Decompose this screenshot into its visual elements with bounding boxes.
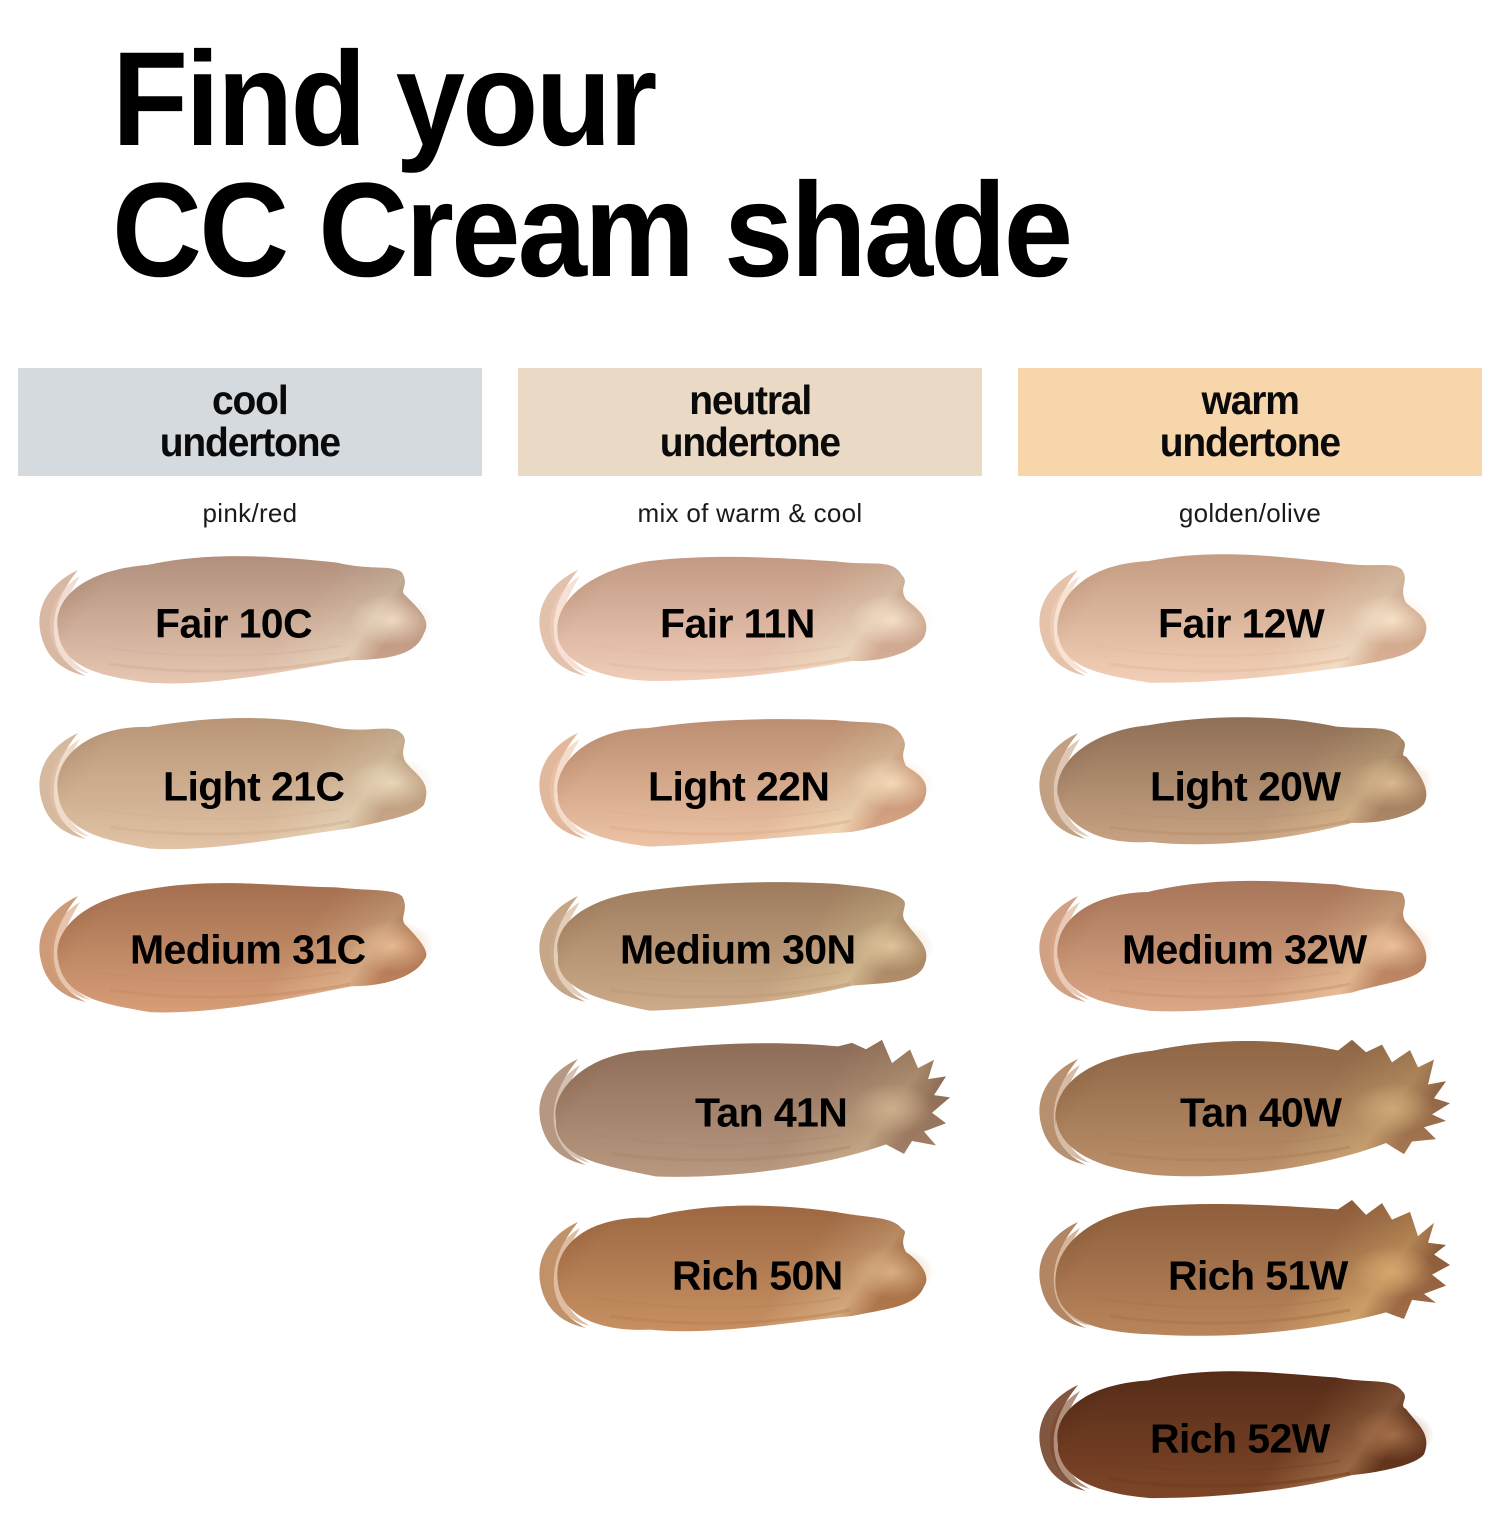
undertone-column-cool: coolundertonepink/redFair 10CLight 21CMe… [0,360,500,1520]
shade-name-label: Fair 12W [1158,600,1324,647]
undertone-header-line-1: warm [1201,380,1298,422]
page-title-line-2: CC Cream shade [112,165,1340,296]
shade-name-label: Tan 40W [1180,1089,1341,1136]
undertone-subtitle-cool: pink/red [0,498,500,532]
shade-swatch[interactable]: Light 22N [500,705,960,868]
shade-swatch[interactable]: Light 21C [0,705,460,868]
swatch-stack-cool: Fair 10CLight 21CMedium 31C [0,542,500,1031]
undertone-header-line-2: undertone [160,422,340,464]
undertone-column-warm: warmundertonegolden/oliveFair 12WLight 2… [1000,360,1500,1520]
shade-name-label: Light 21C [163,763,344,810]
shade-name-label: Rich 52W [1150,1415,1330,1462]
undertone-header-line-2: undertone [660,422,840,464]
shade-name-label: Rich 50N [672,1252,843,1299]
shade-swatch[interactable]: Medium 30N [500,868,960,1031]
undertone-subtitle-neutral: mix of warm & cool [500,498,1000,532]
shade-columns: coolundertonepink/redFair 10CLight 21CMe… [0,360,1500,1520]
shade-name-label: Tan 41N [695,1089,847,1136]
shade-swatch[interactable]: Tan 41N [500,1031,960,1194]
undertone-header-line-1: neutral [689,380,811,422]
shade-swatch[interactable]: Fair 12W [1000,542,1460,705]
undertone-header-line-1: cool [212,380,288,422]
shade-swatch[interactable]: Medium 32W [1000,868,1460,1031]
shade-name-label: Fair 11N [660,600,815,647]
undertone-header-cool: coolundertone [18,368,482,476]
shade-swatch[interactable]: Medium 31C [0,868,460,1031]
shade-name-label: Light 20W [1150,763,1340,810]
shade-swatch[interactable]: Rich 50N [500,1194,960,1357]
shade-swatch[interactable]: Light 20W [1000,705,1460,868]
page-title-line-1: Find your [112,34,1340,165]
shade-name-label: Rich 51W [1168,1252,1348,1299]
shade-name-label: Medium 31C [130,926,366,973]
shade-swatch[interactable]: Fair 10C [0,542,460,705]
undertone-header-line-2: undertone [1160,422,1340,464]
shade-swatch[interactable]: Tan 40W [1000,1031,1460,1194]
shade-swatch[interactable]: Rich 52W [1000,1357,1460,1520]
shade-swatch[interactable]: Rich 51W [1000,1194,1460,1357]
shade-swatch[interactable]: Fair 11N [500,542,960,705]
page-title: Find your CC Cream shade [112,34,1432,297]
undertone-header-neutral: neutralundertone [518,368,982,476]
shade-name-label: Medium 32W [1122,926,1367,973]
shade-name-label: Fair 10C [155,600,312,647]
undertone-column-neutral: neutralundertonemix of warm & coolFair 1… [500,360,1000,1520]
undertone-subtitle-warm: golden/olive [1000,498,1500,532]
shade-name-label: Medium 30N [620,926,856,973]
undertone-header-warm: warmundertone [1018,368,1482,476]
swatch-stack-warm: Fair 12WLight 20WMedium 32WTan 40WRich 5… [1000,542,1500,1520]
shade-name-label: Light 22N [648,763,829,810]
swatch-stack-neutral: Fair 11NLight 22NMedium 30NTan 41NRich 5… [500,542,1000,1357]
